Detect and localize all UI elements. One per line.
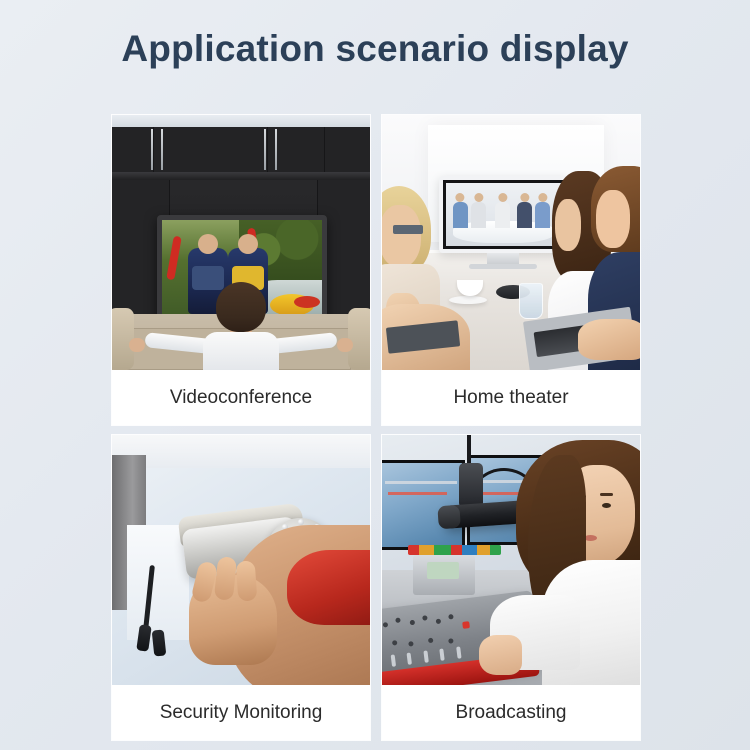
- scenario-card-security-monitoring[interactable]: Security Monitoring: [112, 435, 370, 740]
- console-knob: [448, 613, 454, 619]
- person-head: [216, 282, 266, 332]
- tv-image-kayaker-head: [198, 234, 218, 254]
- console-fader: [406, 652, 411, 664]
- video-call-participant: [471, 202, 486, 228]
- person-hand-right: [337, 338, 353, 352]
- channel-led-strip: [408, 545, 501, 555]
- home-theater-thumbnail: [382, 115, 640, 370]
- ir-led: [298, 519, 304, 525]
- studio-telephone: [413, 555, 475, 595]
- telephone-display: [427, 562, 459, 579]
- ceiling-strip: [112, 115, 370, 127]
- monitor-base: [469, 264, 537, 269]
- console-fader: [439, 648, 444, 660]
- cabinet-handle-icon: [161, 129, 163, 170]
- attendee-face: [382, 205, 421, 267]
- card-caption: Videoconference: [112, 370, 370, 425]
- scenario-card-videoconference[interactable]: Videoconference: [112, 115, 370, 425]
- scenario-card-broadcasting[interactable]: Broadcasting: [382, 435, 640, 740]
- video-call-participant: [517, 202, 532, 228]
- red-sleeve: [287, 550, 370, 625]
- card-caption: Broadcasting: [382, 685, 640, 740]
- tv-image-raft-red: [294, 296, 320, 308]
- scenario-gallery-grid: Videoconference: [112, 115, 640, 730]
- console-fader: [390, 654, 395, 666]
- card-caption: Security Monitoring: [112, 685, 370, 740]
- cabinet-handle-icon: [264, 129, 266, 170]
- person-tshirt: [203, 332, 279, 370]
- installer-hand: [189, 575, 277, 665]
- person-watching-tv: [203, 282, 279, 370]
- console-knob: [391, 640, 397, 646]
- video-call-participant: [453, 202, 468, 228]
- card-caption: Home theater: [382, 370, 640, 425]
- console-knob: [422, 615, 428, 621]
- console-knob: [435, 618, 441, 624]
- broadcasting-thumbnail: [382, 435, 640, 685]
- video-call-participant: [495, 202, 510, 228]
- couch-arm-right: [348, 308, 370, 370]
- cabinet-handle-icon: [151, 129, 153, 170]
- tv-image-kayaker-head: [238, 234, 258, 254]
- console-knob: [408, 641, 414, 647]
- cabinet-door: [153, 127, 268, 172]
- presenter-eye: [602, 503, 611, 508]
- finger: [235, 560, 257, 601]
- cabinet-door: [324, 127, 370, 172]
- videoconference-thumbnail: [112, 115, 370, 370]
- eyeglasses-icon: [393, 225, 423, 234]
- console-knob: [428, 637, 434, 643]
- finger: [213, 556, 237, 601]
- screen-line-red: [388, 492, 447, 495]
- console-knob: [409, 620, 415, 626]
- page-title: Application scenario display: [0, 28, 750, 70]
- console-red-button: [462, 621, 470, 629]
- typing-hand: [578, 319, 640, 360]
- mic-shock-mount: [459, 463, 482, 508]
- screen-line: [385, 481, 457, 484]
- console-knob: [395, 617, 401, 623]
- radio-presenter: [516, 440, 640, 685]
- console-fader: [423, 650, 428, 662]
- attendee-face: [555, 199, 581, 251]
- monitor-stand: [487, 253, 519, 265]
- application-scenario-page: Application scenario display: [0, 0, 750, 750]
- water-glass: [519, 283, 543, 319]
- ceiling-band: [112, 435, 370, 468]
- attendee-face: [596, 190, 630, 247]
- cabinet-handle-icon: [275, 129, 277, 170]
- console-knob: [382, 622, 388, 628]
- console-fader: [455, 646, 460, 658]
- person-hand-left: [129, 338, 145, 352]
- security-monitoring-thumbnail: [112, 435, 370, 685]
- saucer: [449, 296, 487, 304]
- console-knob: [448, 638, 454, 644]
- presenter-hand: [479, 635, 522, 675]
- mic-windscreen: [437, 504, 461, 528]
- shelf-ledge: [112, 172, 370, 180]
- presenter-eyebrow: [600, 493, 613, 496]
- scenario-card-home-theater[interactable]: Home theater: [382, 115, 640, 425]
- cabinet-door: [112, 127, 154, 172]
